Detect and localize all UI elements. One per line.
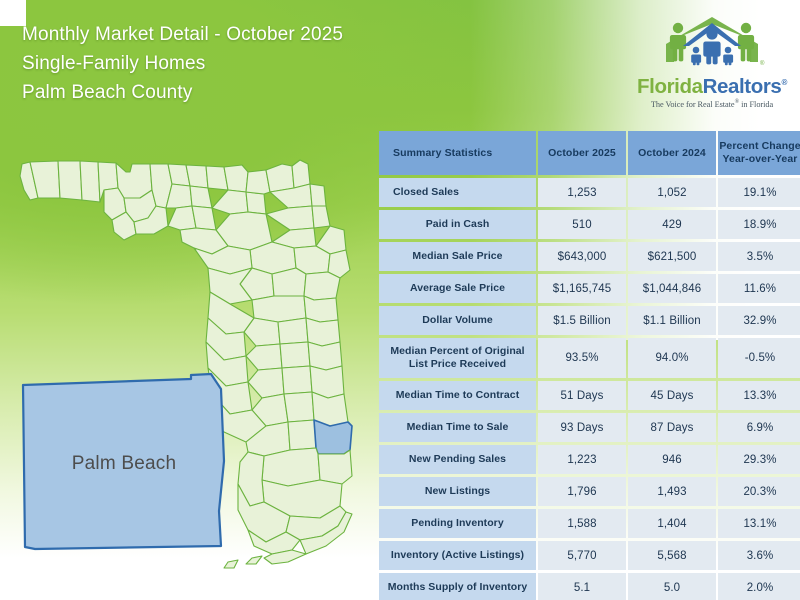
table-row: New Pending Sales 1,223 946 29.3% [379, 445, 800, 474]
column-header-october-2025: October 2025 [538, 131, 626, 175]
row-label: Median Time to Sale [379, 413, 536, 442]
map-highlight-palm-beach [314, 420, 352, 454]
row-prior-value: 45 Days [628, 381, 716, 410]
row-prior-value: 94.0% [628, 338, 716, 378]
row-change-value: 13.1% [718, 509, 800, 538]
row-label: Average Sale Price [379, 274, 536, 303]
row-prior-value: 87 Days [628, 413, 716, 442]
column-header-october-2024: October 2024 [628, 131, 716, 175]
row-prior-value: 5,568 [628, 541, 716, 570]
row-change-value: 13.3% [718, 381, 800, 410]
table-row: Median Sale Price $643,000 $621,500 3.5% [379, 242, 800, 271]
row-prior-value: $1,044,846 [628, 274, 716, 303]
table-row: New Listings 1,796 1,493 20.3% [379, 477, 800, 506]
row-current-value: 510 [538, 210, 626, 239]
row-prior-value: 946 [628, 445, 716, 474]
table-row: Paid in Cash 510 429 18.9% [379, 210, 800, 239]
row-change-value: 3.6% [718, 541, 800, 570]
brand-logo: ® FloridaRealtors® The Voice for Real Es… [636, 14, 788, 109]
row-prior-value: 5.0 [628, 573, 716, 600]
row-current-value: $1,165,745 [538, 274, 626, 303]
row-label: Median Time to Contract [379, 381, 536, 410]
row-label: Median Percent of Original List Price Re… [379, 338, 536, 378]
row-change-value: 3.5% [718, 242, 800, 271]
row-change-value: 11.6% [718, 274, 800, 303]
table-row: Median Time to Sale 93 Days 87 Days 6.9% [379, 413, 800, 442]
table-header-row: Summary Statistics October 2025 October … [379, 131, 800, 175]
logo-word-realtors: Realtors [703, 75, 782, 98]
logo-wordmark: FloridaRealtors® [636, 72, 788, 98]
row-change-value: 29.3% [718, 445, 800, 474]
row-current-value: 93.5% [538, 338, 626, 378]
row-prior-value: $1.1 Billion [628, 306, 716, 335]
title-line-3: Palm Beach County [22, 78, 343, 107]
table-row: Inventory (Active Listings) 5,770 5,568 … [379, 541, 800, 570]
column-header-percent-change: Percent Change Year-over-Year [718, 131, 800, 175]
row-label: Pending Inventory [379, 509, 536, 538]
logo-tagline: The Voice for Real Estate® in Florida [636, 99, 788, 109]
row-label-line1: Median Percent of Original [390, 345, 524, 357]
table-body: Closed Sales 1,253 1,052 19.1% Paid in C… [379, 178, 800, 600]
percent-change-line1: Percent Change [719, 140, 800, 152]
row-current-value: $1.5 Billion [538, 306, 626, 335]
row-label: Paid in Cash [379, 210, 536, 239]
table-row: Median Time to Contract 51 Days 45 Days … [379, 381, 800, 410]
row-label: New Listings [379, 477, 536, 506]
row-change-value: -0.5% [718, 338, 800, 378]
logo-tagline-post: in Florida [739, 100, 773, 109]
row-current-value: 1,796 [538, 477, 626, 506]
row-label: Months Supply of Inventory [379, 573, 536, 600]
row-prior-value: 1,404 [628, 509, 716, 538]
row-change-value: 18.9% [718, 210, 800, 239]
title-line-2: Single-Family Homes [22, 49, 343, 78]
table-row: Pending Inventory 1,588 1,404 13.1% [379, 509, 800, 538]
title-line-1: Monthly Market Detail - October 2025 [22, 20, 343, 49]
row-change-value: 19.1% [718, 178, 800, 207]
percent-change-line2: Year-over-Year [723, 153, 798, 165]
row-prior-value: 429 [628, 210, 716, 239]
row-label: Dollar Volume [379, 306, 536, 335]
row-prior-value: 1,052 [628, 178, 716, 207]
county-callout-label: Palm Beach [5, 453, 243, 475]
row-current-value: 51 Days [538, 381, 626, 410]
row-current-value: 1,253 [538, 178, 626, 207]
row-prior-value: $621,500 [628, 242, 716, 271]
row-current-value: 5.1 [538, 573, 626, 600]
row-label: Median Sale Price [379, 242, 536, 271]
row-change-value: 20.3% [718, 477, 800, 506]
row-change-value: 32.9% [718, 306, 800, 335]
table-row: Closed Sales 1,253 1,052 19.1% [379, 178, 800, 207]
table-row: Average Sale Price $1,165,745 $1,044,846… [379, 274, 800, 303]
market-report-slide: Monthly Market Detail - October 2025 Sin… [0, 0, 800, 600]
row-label: Inventory (Active Listings) [379, 541, 536, 570]
row-label: Closed Sales [379, 178, 536, 207]
row-current-value: 5,770 [538, 541, 626, 570]
row-change-value: 6.9% [718, 413, 800, 442]
county-callout-palm-beach: Palm Beach [5, 371, 243, 563]
row-current-value: 1,223 [538, 445, 626, 474]
logo-tagline-pre: The Voice for Real Estate [651, 100, 735, 109]
row-label-line2: List Price Received [409, 358, 506, 370]
row-change-value: 2.0% [718, 573, 800, 600]
page-title: Monthly Market Detail - October 2025 Sin… [22, 20, 343, 107]
row-current-value: 93 Days [538, 413, 626, 442]
row-prior-value: 1,493 [628, 477, 716, 506]
summary-statistics-table: Summary Statistics October 2025 October … [377, 128, 800, 600]
table-row: Months Supply of Inventory 5.1 5.0 2.0% [379, 573, 800, 600]
svg-text:®: ® [760, 60, 765, 67]
table-row: Median Percent of Original List Price Re… [379, 338, 800, 378]
row-label: New Pending Sales [379, 445, 536, 474]
logo-registered-mark: ® [781, 78, 787, 87]
florida-realtors-house-people-icon: ® [636, 14, 788, 70]
column-header-summary-statistics: Summary Statistics [379, 131, 536, 175]
logo-word-florida: Florida [637, 75, 703, 98]
row-current-value: $643,000 [538, 242, 626, 271]
table-row: Dollar Volume $1.5 Billion $1.1 Billion … [379, 306, 800, 335]
row-current-value: 1,588 [538, 509, 626, 538]
